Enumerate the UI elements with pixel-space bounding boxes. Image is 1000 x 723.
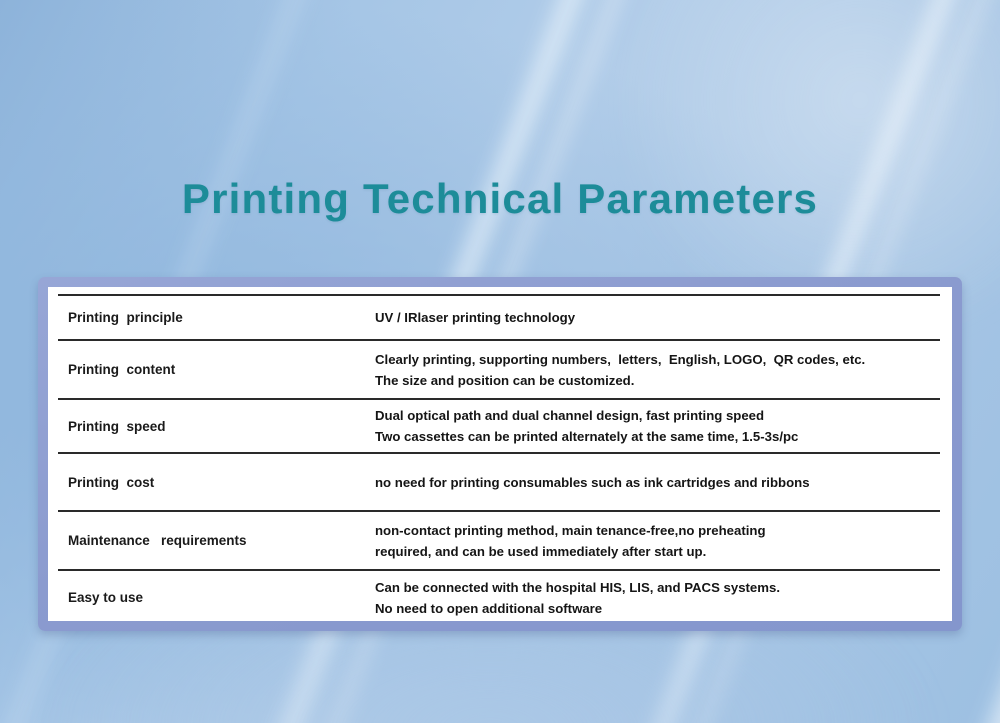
- parameters-card: Printing principle UV / IRlaser printing…: [48, 287, 952, 621]
- value-line: no need for printing consumables such as…: [375, 472, 940, 493]
- table-cell-value: UV / IRlaser printing technology: [368, 295, 940, 340]
- value-line: No need to open additional software: [375, 598, 940, 619]
- table-row: Printing content Clearly printing, suppo…: [58, 340, 940, 399]
- table-cell-label: Easy to use: [58, 570, 368, 621]
- table-cell-value: Clearly printing, supporting numbers, le…: [368, 340, 940, 399]
- row-label: Printing cost: [58, 475, 368, 490]
- table-cell-value: Can be connected with the hospital HIS, …: [368, 570, 940, 621]
- table-cell-label: Printing speed: [58, 399, 368, 453]
- table-row: Printing cost no need for printing consu…: [58, 453, 940, 511]
- row-value: non-contact printing method, main tenanc…: [368, 520, 940, 562]
- value-line: The size and position can be customized.: [375, 370, 940, 391]
- table-row: Easy to use Can be connected with the ho…: [58, 570, 940, 621]
- table-cell-label: Maintenance requirements: [58, 511, 368, 570]
- row-value: Dual optical path and dual channel desig…: [368, 405, 940, 447]
- row-label: Easy to use: [58, 590, 368, 605]
- row-value: UV / IRlaser printing technology: [368, 307, 940, 328]
- table-row: Maintenance requirements non-contact pri…: [58, 511, 940, 570]
- parameters-table: Printing principle UV / IRlaser printing…: [58, 294, 940, 621]
- value-line: Can be connected with the hospital HIS, …: [375, 577, 940, 598]
- value-line: Clearly printing, supporting numbers, le…: [375, 349, 940, 370]
- table-cell-value: non-contact printing method, main tenanc…: [368, 511, 940, 570]
- value-line: non-contact printing method, main tenanc…: [375, 520, 940, 541]
- table-cell-value: Dual optical path and dual channel desig…: [368, 399, 940, 453]
- row-label: Printing principle: [58, 310, 368, 325]
- table-row: Printing speed Dual optical path and dua…: [58, 399, 940, 453]
- table-cell-label: Printing principle: [58, 295, 368, 340]
- table-cell-value: no need for printing consumables such as…: [368, 453, 940, 511]
- value-line: required, and can be used immediately af…: [375, 541, 940, 562]
- table-cell-label: Printing content: [58, 340, 368, 399]
- table-row: Printing principle UV / IRlaser printing…: [58, 295, 940, 340]
- value-line: Dual optical path and dual channel desig…: [375, 405, 940, 426]
- row-value: no need for printing consumables such as…: [368, 472, 940, 493]
- page-title: Printing Technical Parameters: [0, 175, 1000, 223]
- row-label: Printing content: [58, 362, 368, 377]
- parameters-card-frame: Printing principle UV / IRlaser printing…: [38, 277, 962, 631]
- value-line: UV / IRlaser printing technology: [375, 307, 940, 328]
- value-line: Two cassettes can be printed alternately…: [375, 426, 940, 447]
- row-label: Maintenance requirements: [58, 533, 368, 548]
- row-value: Clearly printing, supporting numbers, le…: [368, 349, 940, 391]
- row-label: Printing speed: [58, 419, 368, 434]
- table-cell-label: Printing cost: [58, 453, 368, 511]
- slide-canvas: Printing Technical Parameters Printing p…: [0, 0, 1000, 723]
- row-value: Can be connected with the hospital HIS, …: [368, 577, 940, 619]
